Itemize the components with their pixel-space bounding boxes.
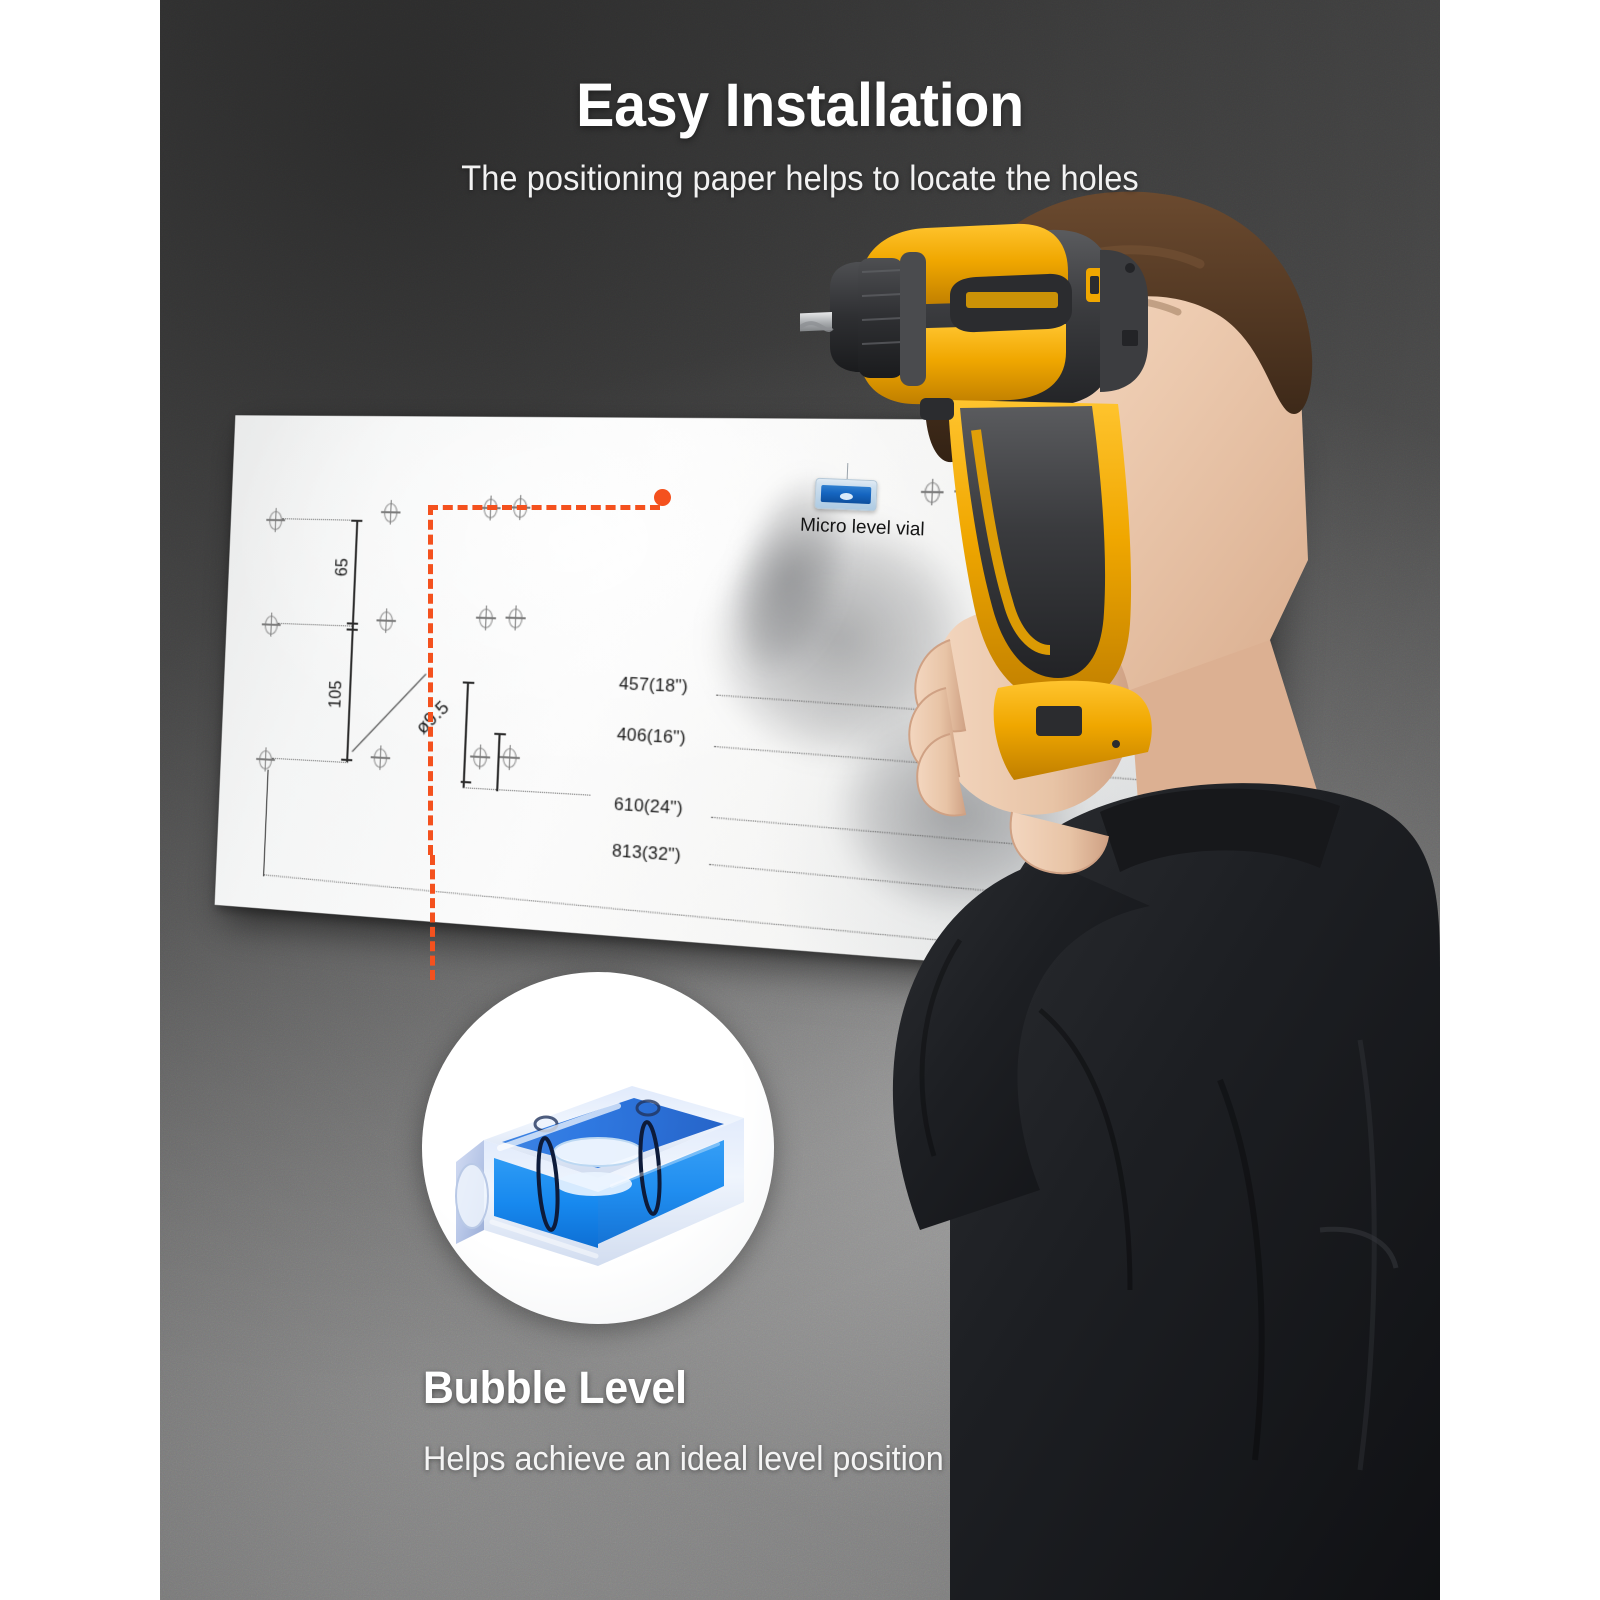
caption-subtitle: Helps achieve an ideal level position (423, 1440, 944, 1479)
crosshair-hole-marker (1049, 756, 1074, 784)
crosshair-hole-marker (1056, 599, 1081, 627)
page-subtitle: The positioning paper helps to locate th… (56, 159, 1544, 199)
crosshair-hole-marker (376, 608, 396, 633)
hole-diameter-label: ø9.5 (411, 697, 454, 739)
crosshair-hole-marker (370, 745, 390, 771)
product-feature-image: 65 105 ø9.5 457(18") 406(16") (0, 0, 1600, 1600)
paper-sheen (215, 415, 1272, 986)
caption-title: Bubble Level (423, 1362, 944, 1414)
micro-level-vial-label: Micro level vial (800, 515, 925, 542)
crosshair-hole-marker (261, 612, 281, 637)
dimension-406: 406(16") (616, 726, 686, 749)
dimension-105: 105 (327, 680, 346, 709)
drill-bit (800, 312, 832, 336)
caption-block: Bubble Level Helps achieve an ideal leve… (423, 1362, 971, 1479)
crosshair-hole-marker (1061, 474, 1086, 501)
dimension-610: 610(24") (614, 796, 684, 819)
crosshair-hole-marker (954, 478, 978, 505)
headline-block: Easy Installation The positioning paper … (0, 74, 1600, 199)
crosshair-hole-marker (1201, 469, 1226, 497)
crosshair-hole-marker (266, 508, 286, 533)
crosshair-hole-marker (256, 747, 276, 772)
crosshair-hole-marker (475, 605, 496, 631)
crosshair-hole-marker (480, 495, 501, 520)
vial-body (814, 478, 877, 512)
crosshair-hole-marker (510, 495, 531, 520)
positioning-paper: 65 105 ø9.5 457(18") 406(16") (225, 415, 1145, 905)
crosshair-hole-marker (499, 745, 520, 771)
dimension-813: 813(32") (612, 843, 682, 867)
hand-shadow (689, 429, 893, 723)
crosshair-hole-marker (381, 500, 401, 525)
crosshair-hole-marker (505, 605, 526, 631)
crosshair-hole-marker (1196, 594, 1221, 622)
dimension-457: 457(18") (619, 676, 689, 698)
paper-sheet: 65 105 ø9.5 457(18") 406(16") (215, 415, 1272, 986)
crosshair-hole-marker (1189, 754, 1214, 783)
vial-bubble (839, 493, 852, 501)
crosshair-hole-marker (470, 744, 491, 770)
micro-level-vial-icon (814, 478, 877, 512)
bubble-level-inset (422, 972, 774, 1324)
crosshair-hole-marker (920, 479, 944, 506)
bubble-level-illustration (422, 972, 774, 1324)
dimension-65: 65 (334, 558, 353, 577)
vial-liquid (821, 485, 872, 504)
page-title: Easy Installation (48, 74, 1552, 137)
photo-scene: 65 105 ø9.5 457(18") 406(16") (160, 0, 1440, 1600)
